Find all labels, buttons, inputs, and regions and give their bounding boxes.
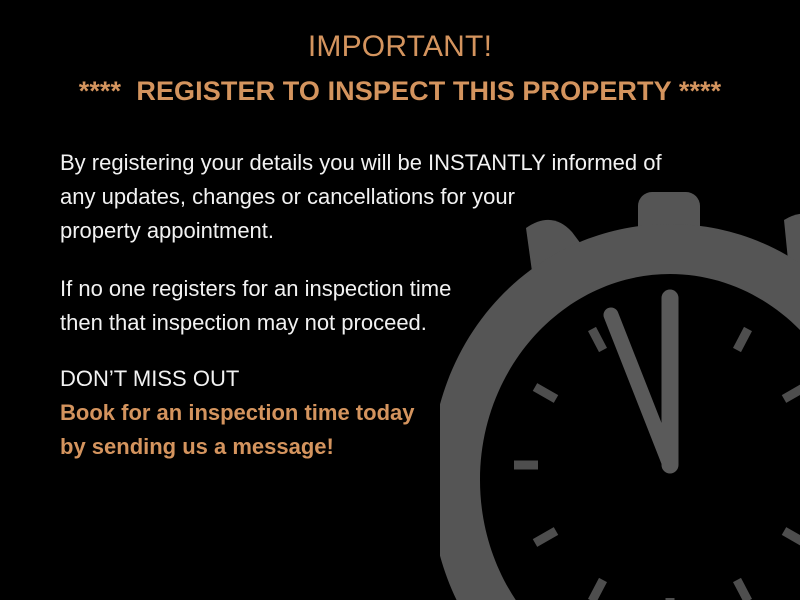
page-subtitle: **** REGISTER TO INSPECT THIS PROPERTY *…: [0, 76, 800, 107]
cta-send-message: by sending us a message!: [60, 430, 540, 464]
slide-canvas: IMPORTANT! **** REGISTER TO INSPECT THIS…: [0, 0, 800, 600]
paragraph-registration-benefits: By registering your details you will be …: [60, 146, 720, 248]
cta-book-inspection: Book for an inspection time today: [60, 396, 540, 430]
paragraph-inspection-warning: If no one registers for an inspection ti…: [60, 272, 580, 340]
cta-dont-miss-out: DON’T MISS OUT: [60, 362, 540, 396]
call-to-action-block: DON’T MISS OUT Book for an inspection ti…: [60, 362, 540, 464]
page-title: IMPORTANT!: [0, 30, 800, 63]
text-layer: IMPORTANT! **** REGISTER TO INSPECT THIS…: [0, 0, 800, 600]
